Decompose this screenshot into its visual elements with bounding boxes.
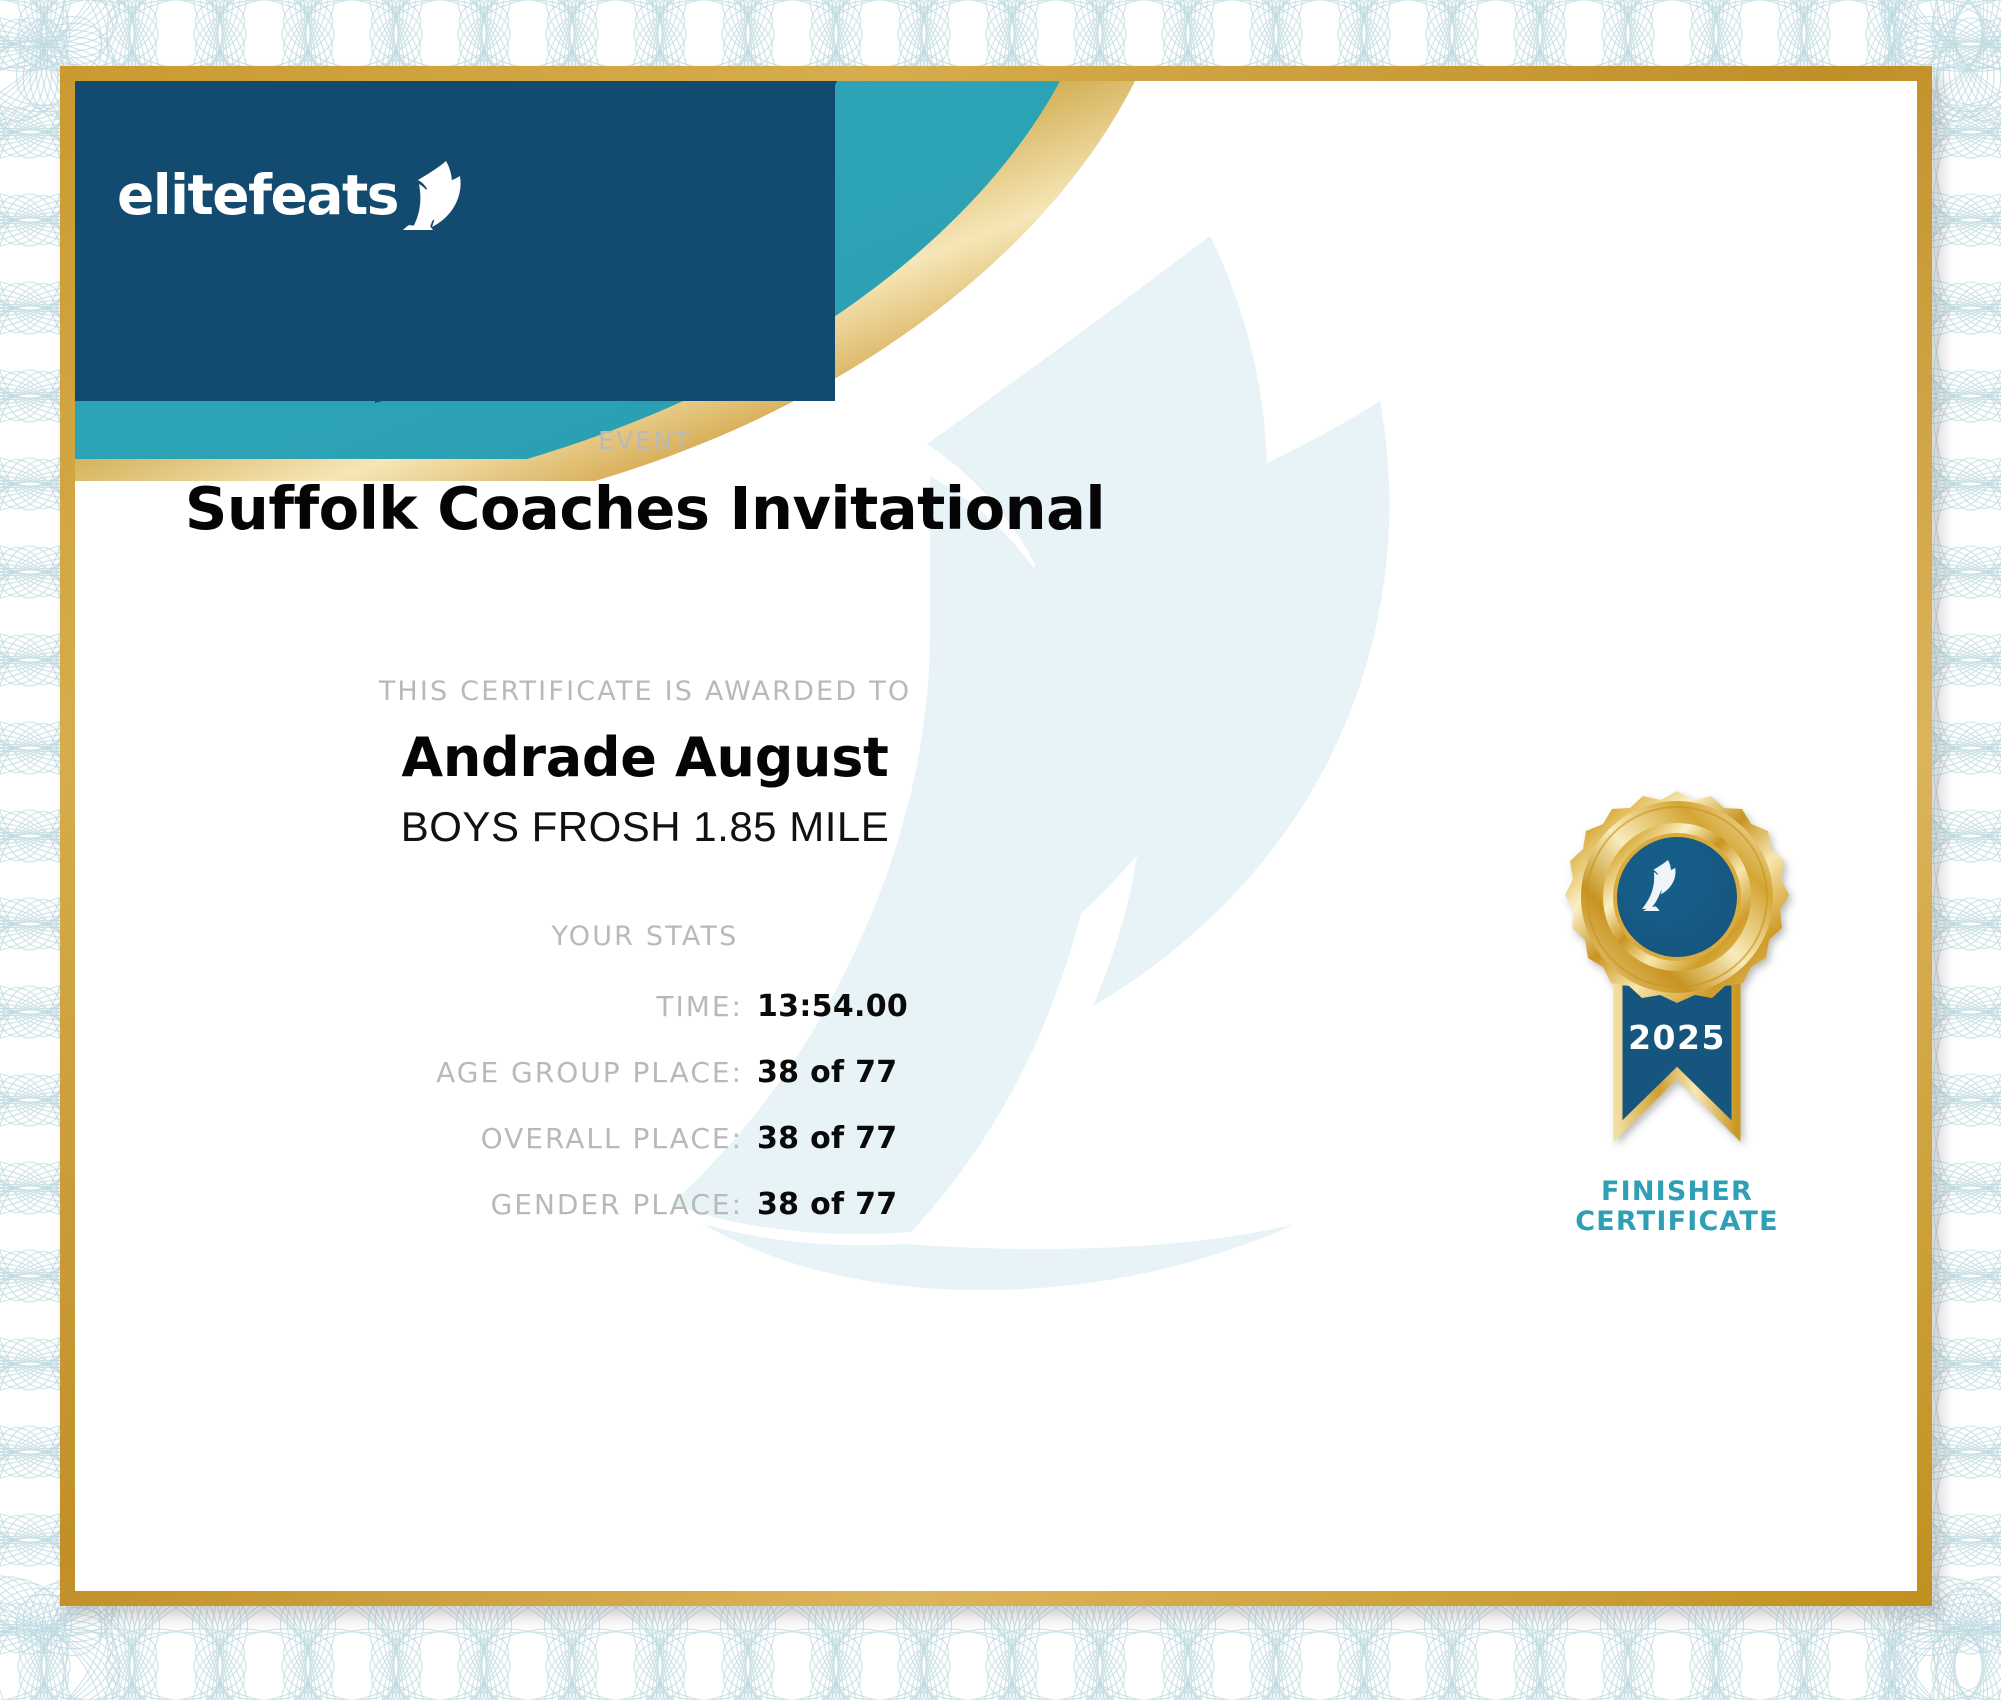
event-name: Suffolk Coaches Invitational <box>75 474 1215 543</box>
stat-label-age-group-place: AGE GROUP PLACE: <box>273 1056 757 1089</box>
stat-label-time: TIME: <box>273 990 757 1023</box>
rosette-starburst <box>1565 791 1789 1003</box>
finisher-medal-badge: 2025 FINISHER CERTIFICATE <box>1532 781 1822 1237</box>
certificate-body: elitefeats EVENT Suffolk Coaches Invitat… <box>75 81 1917 1591</box>
stat-value-overall-place: 38 of 77 <box>757 1121 1017 1156</box>
stat-value-age-group-place: 38 of 77 <box>757 1055 1017 1090</box>
stat-value-gender-place: 38 of 77 <box>757 1187 1017 1222</box>
event-label: EVENT <box>75 426 1215 455</box>
stat-label-gender-place: GENDER PLACE: <box>273 1188 757 1221</box>
stat-row-time: TIME: 13:54.00 <box>75 989 1215 1033</box>
medal-caption-line2: CERTIFICATE <box>1532 1207 1822 1237</box>
race-division: BOYS FROSH 1.85 MILE <box>75 803 1215 851</box>
medal-center-disc <box>1617 837 1737 957</box>
recipient-name: Andrade August <box>75 726 1215 789</box>
award-rosette-icon: 2025 <box>1532 781 1822 1171</box>
medal-year-text: 2025 <box>1628 1018 1726 1057</box>
stat-row-gender-place: GENDER PLACE: 38 of 77 <box>75 1187 1215 1231</box>
your-stats-label: YOUR STATS <box>75 921 1215 952</box>
stat-label-overall-place: OVERALL PLACE: <box>273 1122 757 1155</box>
medal-caption: FINISHER CERTIFICATE <box>1532 1177 1822 1237</box>
certificate-content: EVENT Suffolk Coaches Invitational THIS … <box>75 81 1917 1591</box>
certificate-frame: elitefeats EVENT Suffolk Coaches Invitat… <box>60 66 1932 1606</box>
stat-value-time: 13:54.00 <box>757 989 1017 1024</box>
awarded-to-label: THIS CERTIFICATE IS AWARDED TO <box>75 676 1215 707</box>
stat-row-overall-place: OVERALL PLACE: 38 of 77 <box>75 1121 1215 1165</box>
stat-row-age-group-place: AGE GROUP PLACE: 38 of 77 <box>75 1055 1215 1099</box>
stats-list: TIME: 13:54.00 AGE GROUP PLACE: 38 of 77… <box>75 989 1215 1253</box>
medal-caption-line1: FINISHER <box>1532 1177 1822 1207</box>
